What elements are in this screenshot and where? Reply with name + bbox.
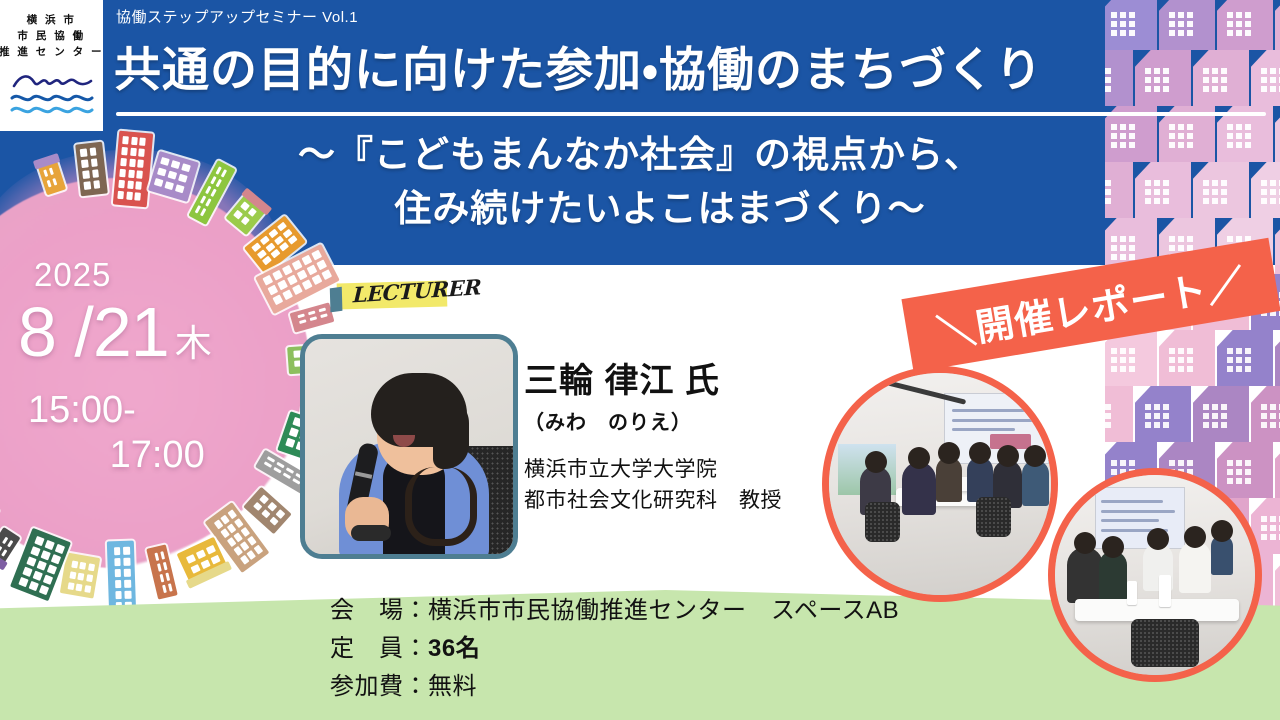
fee-row: 参加費：無料 xyxy=(330,668,899,706)
house-icon xyxy=(1251,386,1280,442)
speaker-affiliation: 横浜市立大学大学院 都市社会文化研究科 教授 xyxy=(524,455,782,516)
photo2-table xyxy=(1075,599,1239,621)
speaker-photo xyxy=(300,334,518,559)
event-time: 15:00- 17:00 xyxy=(28,388,211,478)
subtitle-line-1: 〜『こどもまんなか社会』の視点から、 xyxy=(298,134,982,175)
logo-line-3: 推 進 セ ン タ ー xyxy=(0,44,104,60)
house-icon xyxy=(1193,386,1249,442)
speaker-info: 三輪 律江 氏 （みわ のりえ） 横浜市立大学大学院 都市社会文化研究科 教授 xyxy=(524,363,782,516)
house-icon xyxy=(1275,442,1280,498)
house-icon xyxy=(1105,386,1133,442)
house-icon xyxy=(1105,50,1133,106)
house-icon xyxy=(1275,330,1280,386)
event-photo-audience xyxy=(822,366,1058,602)
event-poster: 横 浜 市 市 民 協 働 推 進 セ ン タ ー 協働ステップアップセミナー … xyxy=(0,0,1280,720)
venue-row: 会 場：横浜市市民協働推進センター スペースAB xyxy=(330,592,899,630)
house-icon xyxy=(1251,50,1280,106)
lecturer-marker-label: LECTURER xyxy=(352,274,481,307)
photo2-cup xyxy=(1127,581,1137,605)
event-details-list: 会 場：横浜市市民協働推進センター スペースAB 定 員：36名 参加費：無料 xyxy=(330,592,899,706)
speaker-name-kana: （みわ のりえ） xyxy=(524,406,782,435)
fee-value: 無料 xyxy=(428,673,477,700)
photo-speaker-watch xyxy=(351,525,391,541)
logo-wave-svg xyxy=(9,64,95,120)
photo1-chair xyxy=(865,502,901,542)
building-icon xyxy=(107,540,136,615)
affiliation-line-2: 都市社会文化研究科 教授 xyxy=(524,486,782,516)
photo1-attendee xyxy=(967,457,994,501)
photo2-attendee xyxy=(1067,547,1103,603)
organization-logo: 横 浜 市 市 民 協 働 推 進 セ ン タ ー xyxy=(0,0,103,131)
photo-speaker-hair-side xyxy=(433,397,469,469)
event-month-day: 8 /21木 xyxy=(18,297,211,368)
photo1-attendee xyxy=(936,457,963,501)
time-start: 15:00- xyxy=(28,389,136,431)
capacity-value: 36名 xyxy=(428,635,480,662)
event-date-block: 2025 8 /21木 15:00- 17:00 xyxy=(18,258,211,478)
photo2-attendee xyxy=(1099,551,1127,601)
event-year: 2025 xyxy=(34,258,211,291)
logo-line-1: 横 浜 市 xyxy=(27,12,77,28)
photo2-bottle xyxy=(1159,575,1171,607)
page-subtitle: 〜『こどもまんなか社会』の視点から、 住み続けたいよこはまづくり〜 xyxy=(0,128,1280,235)
house-icon xyxy=(1217,330,1273,386)
house-icon xyxy=(1275,554,1280,610)
venue-value: 横浜市市民協働推進センター スペースAB xyxy=(428,597,899,624)
affiliation-line-1: 横浜市立大学大学院 xyxy=(524,455,782,485)
day-of-week: 木 xyxy=(175,323,211,364)
house-icon xyxy=(1217,0,1273,50)
time-end: 17:00 xyxy=(28,433,211,478)
house-icon xyxy=(1193,50,1249,106)
photo2-attendee xyxy=(1211,535,1233,575)
subtitle-line-2: 住み続けたいよこはまづくり〜 xyxy=(0,182,1280,236)
house-icon xyxy=(1159,0,1215,50)
logo-line-2: 市 民 協 働 xyxy=(17,28,85,44)
event-photo-discussion xyxy=(1048,468,1262,682)
photo2-attendee xyxy=(1179,541,1211,593)
page-title: 共通の目的に向けた参加・協働のまちづくり xyxy=(114,46,1043,93)
series-label: 協働ステップアップセミナー Vol.1 xyxy=(116,6,358,27)
photo1-attendee xyxy=(902,462,935,515)
house-icon xyxy=(1275,0,1280,50)
fee-label: 参加費： xyxy=(330,668,428,706)
house-icon xyxy=(1135,386,1191,442)
logo-wave-mark xyxy=(9,64,95,120)
building-icon xyxy=(60,552,100,598)
photo1-chair xyxy=(976,497,1012,537)
speaker-name: 三輪 律江 氏 xyxy=(524,363,782,400)
title-underline xyxy=(116,112,1266,116)
photo2-chair xyxy=(1131,619,1199,667)
photo1-attendee xyxy=(1022,460,1049,507)
house-icon xyxy=(1159,330,1215,386)
house-icon xyxy=(1105,0,1157,50)
capacity-row: 定 員：36名 xyxy=(330,630,899,668)
venue-label: 会 場： xyxy=(330,592,428,630)
capacity-label: 定 員： xyxy=(330,630,428,668)
month-day-value: 8 /21 xyxy=(18,293,169,371)
lecturer-marker-badge: LECTURER xyxy=(337,280,448,309)
photo-speaker-necklace xyxy=(405,467,477,546)
house-icon xyxy=(1135,50,1191,106)
